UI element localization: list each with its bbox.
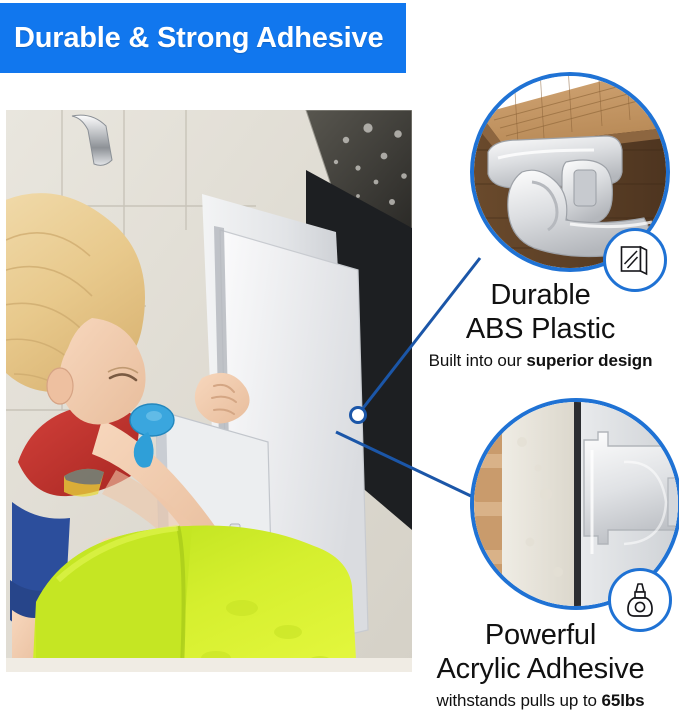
feature-subtitle: Built into our superior design: [402, 349, 679, 372]
feature-text-powerful: Powerful Acrylic Adhesive withstands pul…: [402, 618, 679, 712]
glue-bottle-icon: [623, 582, 657, 618]
feature-subtitle-plain: Built into our: [429, 351, 527, 370]
feature-subtitle-emphasis: 65lbs: [601, 691, 644, 710]
photo-illustration: [6, 110, 412, 672]
feature-subtitle-plain: withstands pulls up to: [437, 691, 602, 710]
lifestyle-photo: [6, 110, 412, 672]
feature-subtitle-emphasis: superior design: [526, 351, 652, 370]
feature-title-line2: ABS Plastic: [402, 312, 679, 346]
feature-title-line1: Durable: [402, 278, 679, 312]
header-banner: Durable & Strong Adhesive: [0, 3, 406, 73]
plastic-panel-icon: [618, 243, 652, 277]
infographic-root: Durable & Strong Adhesive: [0, 0, 679, 713]
banner-title: Durable & Strong Adhesive: [0, 22, 383, 55]
feature-text-durable: Durable ABS Plastic Built into our super…: [402, 278, 679, 372]
feature-title-line1: Powerful: [402, 618, 679, 652]
feature-title-line2: Acrylic Adhesive: [402, 652, 679, 686]
feature-subtitle: withstands pulls up to 65lbs: [402, 689, 679, 712]
